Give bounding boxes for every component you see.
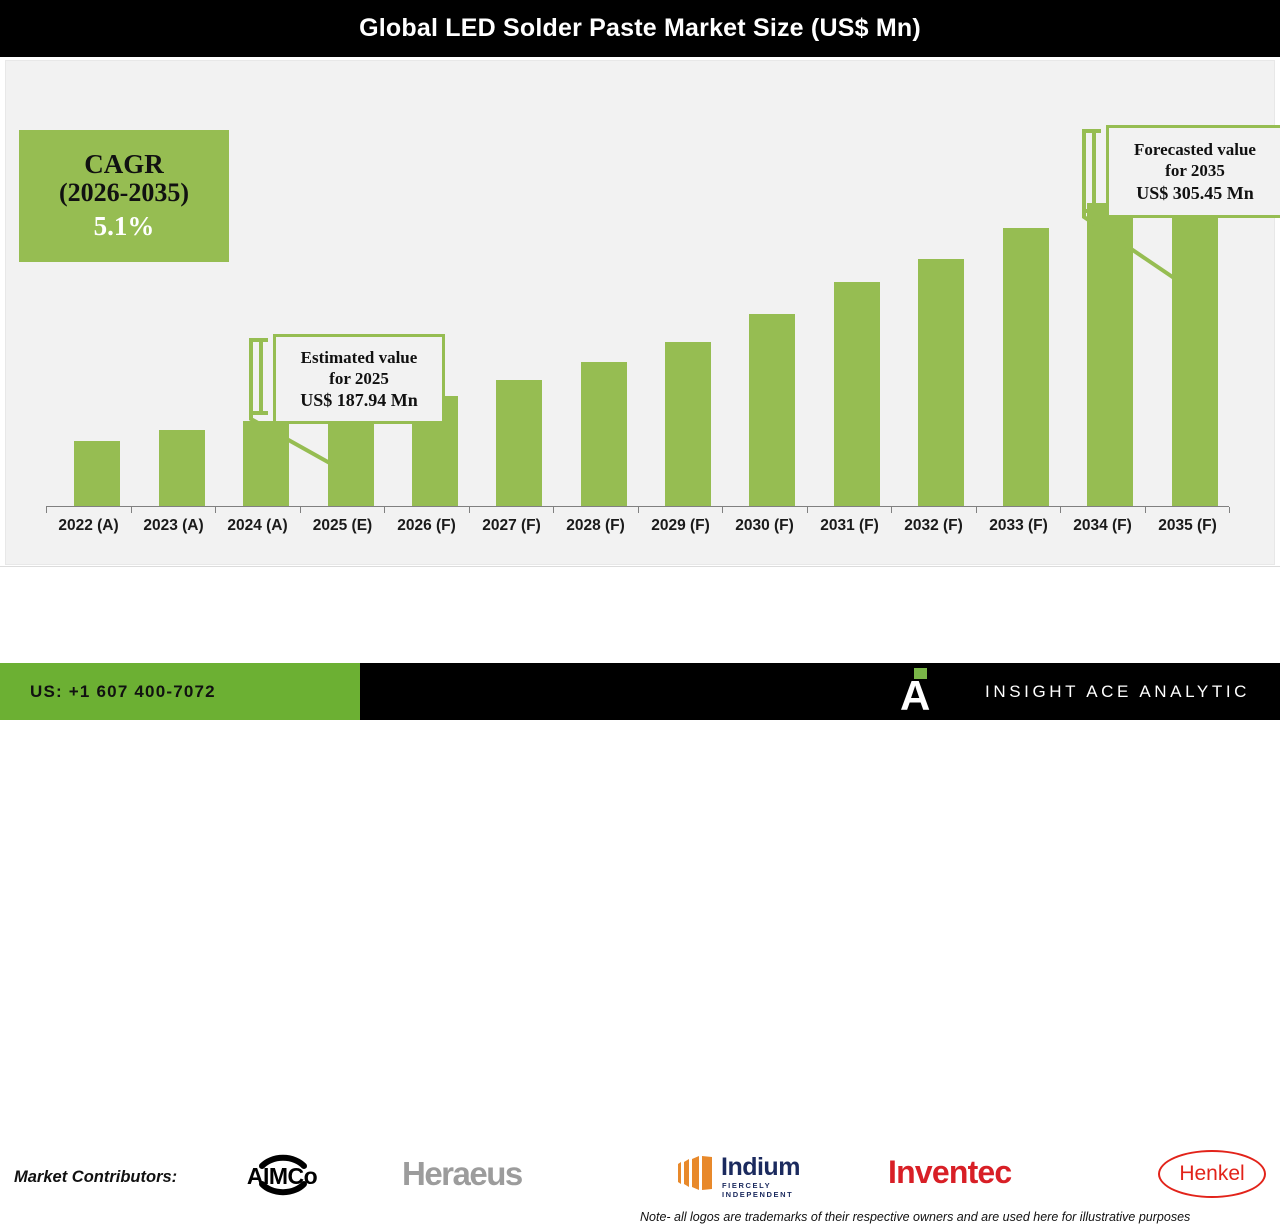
callout-forecasted-2035: Forecasted value for 2035 US$ 305.45 Mn bbox=[1106, 125, 1280, 218]
heraeus-logo-text: Heraeus bbox=[402, 1155, 587, 1193]
x-axis-label-2024: 2024 (A) bbox=[215, 517, 300, 535]
x-axis-tick bbox=[1229, 507, 1230, 513]
x-axis-label-2033: 2033 (F) bbox=[976, 517, 1061, 535]
henkel-logo-text: Henkel bbox=[1179, 1162, 1244, 1186]
callout-estimated-line3: US$ 187.94 Mn bbox=[284, 389, 434, 412]
x-axis-label-2035: 2035 (F) bbox=[1145, 517, 1230, 535]
insight-ace-logo-mark: A bbox=[900, 668, 944, 714]
bar-2031 bbox=[834, 282, 880, 506]
indium-logo: Indium FIERCELY INDEPENDENT bbox=[676, 1153, 826, 1195]
bar-2024 bbox=[243, 421, 289, 506]
x-axis-tick bbox=[807, 507, 808, 513]
bar-2025 bbox=[328, 410, 374, 506]
bar-2030 bbox=[749, 314, 795, 506]
x-axis-label-2026: 2026 (F) bbox=[384, 517, 469, 535]
x-axis-label-2034: 2034 (F) bbox=[1060, 517, 1145, 535]
x-axis-tick bbox=[215, 507, 216, 513]
x-axis-tick bbox=[1145, 507, 1146, 513]
x-axis-tick bbox=[722, 507, 723, 513]
brand-letter-a: A bbox=[900, 676, 944, 716]
x-axis-line bbox=[46, 506, 1229, 507]
bar-2022 bbox=[74, 441, 120, 506]
bar-2034 bbox=[1087, 203, 1133, 506]
cagr-box: CAGR (2026-2035) 5.1% bbox=[19, 130, 229, 262]
x-axis-label-2031: 2031 (F) bbox=[807, 517, 892, 535]
inventec-logo-text: Inventec bbox=[888, 1152, 1073, 1192]
page-title: Global LED Solder Paste Market Size (US$… bbox=[359, 14, 921, 43]
x-axis-label-2029: 2029 (F) bbox=[638, 517, 723, 535]
x-axis-tick bbox=[1060, 507, 1061, 513]
cagr-period: (2026-2035) bbox=[59, 178, 189, 208]
x-axis-tick bbox=[469, 507, 470, 513]
x-axis-tick bbox=[46, 507, 47, 513]
callout-estimated-line1: Estimated value bbox=[284, 347, 434, 368]
bar-2027 bbox=[496, 380, 542, 506]
bar-2029 bbox=[665, 342, 711, 506]
x-axis-label-2023: 2023 (A) bbox=[131, 517, 216, 535]
brand-name-text: INSIGHT ACE ANALYTIC bbox=[985, 682, 1250, 702]
chart-panel: 2022 (A)2023 (A)2024 (A)2025 (E)2026 (F)… bbox=[5, 60, 1275, 565]
x-axis-label-2030: 2030 (F) bbox=[722, 517, 807, 535]
aimco-logo-text: AIMCo bbox=[232, 1163, 332, 1190]
x-axis-label-2022: 2022 (A) bbox=[46, 517, 131, 535]
bar-2033 bbox=[1003, 228, 1049, 506]
x-axis-tick bbox=[976, 507, 977, 513]
logo-trademark-note: Note- all logos are trademarks of their … bbox=[640, 1210, 1190, 1224]
indium-logo-text: Indium bbox=[721, 1153, 800, 1182]
aimco-logo: AIMCo bbox=[232, 1152, 332, 1198]
bar-2028 bbox=[581, 362, 627, 506]
footer-phone-text: US: +1 607 400-7072 bbox=[30, 682, 216, 702]
cagr-label: CAGR bbox=[84, 150, 164, 178]
x-axis-label-2028: 2028 (F) bbox=[553, 517, 638, 535]
x-axis-tick bbox=[638, 507, 639, 513]
market-contributors-label: Market Contributors: bbox=[14, 1168, 177, 1187]
market-contributors-strip: Market Contributors: AIMCo Heraeus Indiu… bbox=[0, 566, 1280, 661]
callout-forecasted-line1: Forecasted value bbox=[1117, 139, 1273, 160]
x-axis-label-2027: 2027 (F) bbox=[469, 517, 554, 535]
cagr-value: 5.1% bbox=[94, 210, 155, 242]
x-axis-tick bbox=[131, 507, 132, 513]
callout-estimated-line2: for 2025 bbox=[284, 368, 434, 389]
x-axis-label-2032: 2032 (F) bbox=[891, 517, 976, 535]
x-axis-tick bbox=[384, 507, 385, 513]
callout-forecasted-line2: for 2035 bbox=[1117, 160, 1273, 181]
x-axis-tick bbox=[300, 507, 301, 513]
indium-logo-tagline: FIERCELY INDEPENDENT bbox=[722, 1181, 826, 1199]
henkel-logo: Henkel bbox=[1158, 1150, 1266, 1198]
x-axis-tick bbox=[891, 507, 892, 513]
footer-phone-block: US: +1 607 400-7072 bbox=[0, 663, 360, 720]
title-bar: Global LED Solder Paste Market Size (US$… bbox=[0, 0, 1280, 57]
x-axis-tick bbox=[553, 507, 554, 513]
indium-bars-icon bbox=[676, 1154, 718, 1192]
callout-estimated-2025: Estimated value for 2025 US$ 187.94 Mn bbox=[273, 334, 445, 424]
bar-2023 bbox=[159, 430, 205, 506]
x-axis-label-2025: 2025 (E) bbox=[300, 517, 385, 535]
bar-2032 bbox=[918, 259, 964, 506]
callout-forecasted-line3: US$ 305.45 Mn bbox=[1117, 182, 1273, 205]
